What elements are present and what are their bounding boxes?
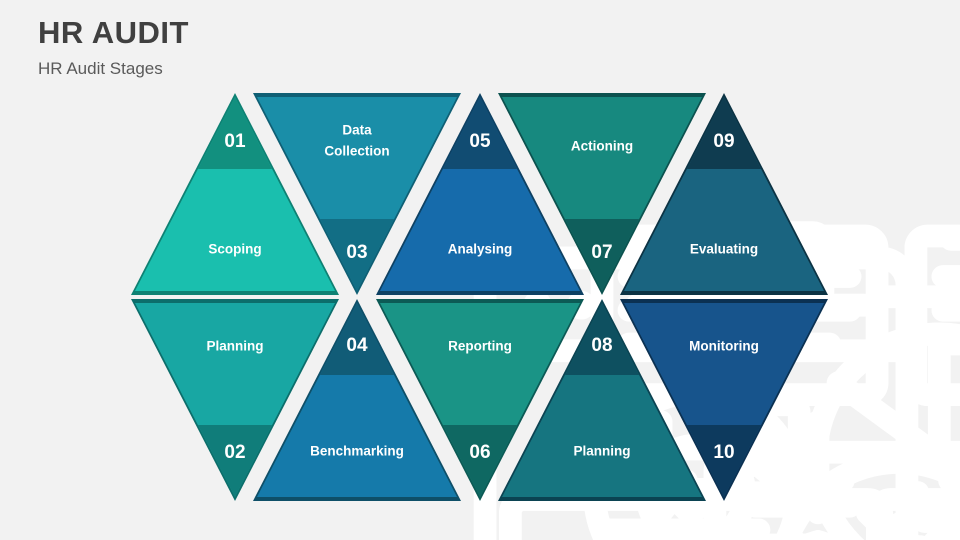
stage-tile-10-label: Monitoring xyxy=(689,339,759,354)
hr-audit-triangle-diagram: 01 Scoping Data Collection 03 xyxy=(0,0,960,540)
stage-tile-09-label: Evaluating xyxy=(690,242,758,257)
stage-tile-04-number: 04 xyxy=(346,335,368,356)
stage-tile-05-number: 05 xyxy=(469,131,491,152)
stage-tile-07-number: 07 xyxy=(591,242,612,263)
stage-tile-08-number: 08 xyxy=(591,335,612,356)
stage-tile-03-label-line1: Data xyxy=(342,123,372,138)
stage-tile-07-label: Actioning xyxy=(571,139,633,154)
stage-tile-01-label: Scoping xyxy=(208,242,261,257)
stage-tile-09-number: 09 xyxy=(713,131,734,152)
stage-tile-02-number: 02 xyxy=(224,442,245,463)
stage-tile-10-number: 10 xyxy=(713,442,734,463)
stage-tile-02-label: Planning xyxy=(207,339,264,354)
stage-tile-06-number: 06 xyxy=(469,442,490,463)
stage-tile-08-label: Planning xyxy=(574,444,631,459)
stage-tile-06-label: Reporting xyxy=(448,339,512,354)
stage-tile-05-label: Analysing xyxy=(448,242,513,257)
stage-tile-03-number: 03 xyxy=(346,242,367,263)
slide-canvas: HR AUDIT HR Audit Stages xyxy=(0,0,960,540)
stage-tile-01-number: 01 xyxy=(224,131,246,152)
stage-tile-03-label-line2: Collection xyxy=(324,144,389,159)
stage-tile-04-label: Benchmarking xyxy=(310,444,404,459)
